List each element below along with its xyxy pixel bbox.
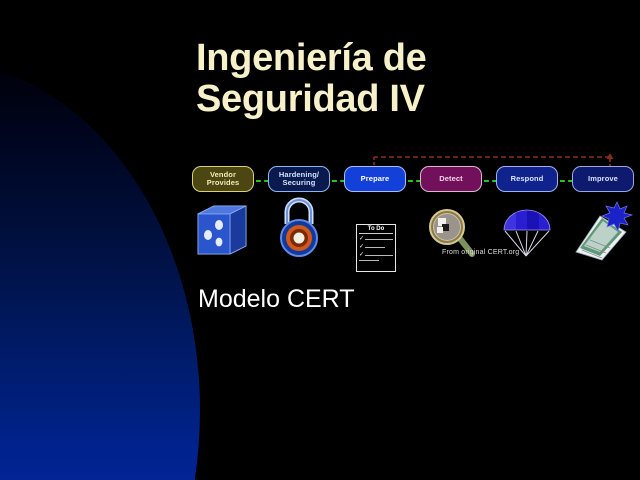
- blue-gradient-swoosh: [0, 60, 200, 480]
- node-box-prepare[interactable]: Prepare: [344, 166, 406, 192]
- slide-subtitle: Modelo CERT: [198, 285, 355, 314]
- todo-card-title: To Do: [359, 226, 393, 234]
- stage-detect[interactable]: Detect: [420, 166, 482, 192]
- node-box-hardening-securing[interactable]: Hardening/ Securing: [268, 166, 330, 192]
- todo-item: ✓: [359, 244, 393, 250]
- source-caption: From original CERT.org: [442, 249, 519, 256]
- software-box-icon: [192, 194, 254, 262]
- check-icon: ✓: [359, 252, 364, 258]
- node-box-detect[interactable]: Detect: [420, 166, 482, 192]
- padlock-icon: [268, 194, 330, 262]
- burst-documents-icon: [572, 194, 634, 262]
- slide-canvas: Ingeniería de Seguridad IV Vendor Provid…: [0, 0, 640, 480]
- node-label: Prepare: [361, 175, 390, 183]
- stage-vendor-provides[interactable]: Vendor Provides: [192, 166, 254, 192]
- node-label: Vendor Provides: [207, 171, 239, 187]
- todo-item: ✓: [359, 236, 393, 242]
- node-label: Hardening/ Securing: [279, 171, 319, 187]
- node-box-improve[interactable]: Improve: [572, 166, 634, 192]
- cert-model-diagram: Vendor Provides Har: [192, 144, 632, 279]
- node-box-respond[interactable]: Respond: [496, 166, 558, 192]
- page-title: Ingeniería de Seguridad IV: [196, 38, 616, 120]
- stage-hardening-securing[interactable]: Hardening/ Securing: [268, 166, 330, 192]
- node-label: Improve: [588, 175, 618, 183]
- node-label: Detect: [439, 175, 463, 183]
- todo-card: To Do ✓ ✓ ✓: [356, 224, 396, 272]
- todo-item: [359, 260, 393, 261]
- stage-respond[interactable]: Respond: [496, 166, 558, 192]
- node-label: Respond: [511, 175, 544, 183]
- check-icon: ✓: [359, 244, 364, 250]
- todo-item: ✓: [359, 252, 393, 258]
- todo-list-icon: To Do ✓ ✓ ✓: [344, 194, 406, 262]
- stage-improve[interactable]: Improve: [572, 166, 634, 192]
- node-box-vendor-provides[interactable]: Vendor Provides: [192, 166, 254, 192]
- stage-prepare[interactable]: Prepare To Do ✓ ✓ ✓: [344, 166, 406, 192]
- check-icon: ✓: [359, 236, 364, 242]
